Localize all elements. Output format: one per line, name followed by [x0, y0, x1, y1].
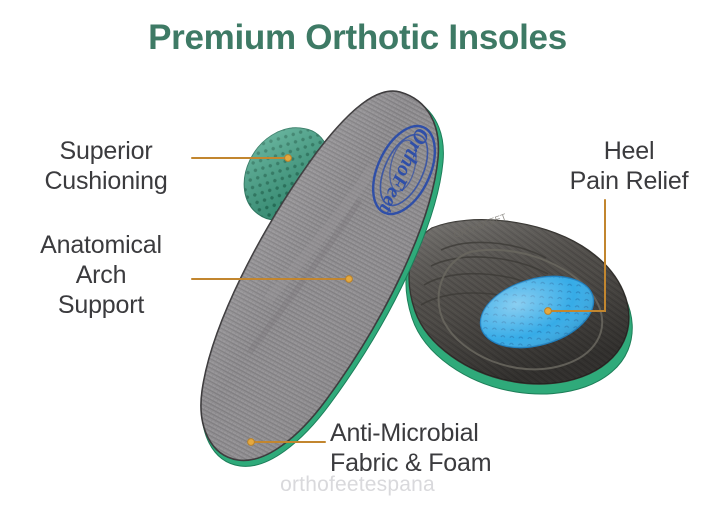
page-title: Premium Orthotic Insoles [0, 18, 715, 58]
callout-label-superior-cushioning: Superior Cushioning [20, 136, 192, 196]
watermark-text: orthofeetespana [0, 473, 715, 497]
callout-label-heel-pain-relief: Heel Pain Relief [548, 136, 710, 196]
insole-product-infographic: ORTHOFEET OrthoFeet [0, 0, 715, 505]
callout-label-anatomical-arch-support: Anatomical Arch Support [10, 230, 192, 320]
bottom-insole-shell: ORTHOFEET [406, 211, 632, 394]
callout-label-anti-microbial: Anti-Microbial Fabric & Foam [330, 418, 570, 478]
